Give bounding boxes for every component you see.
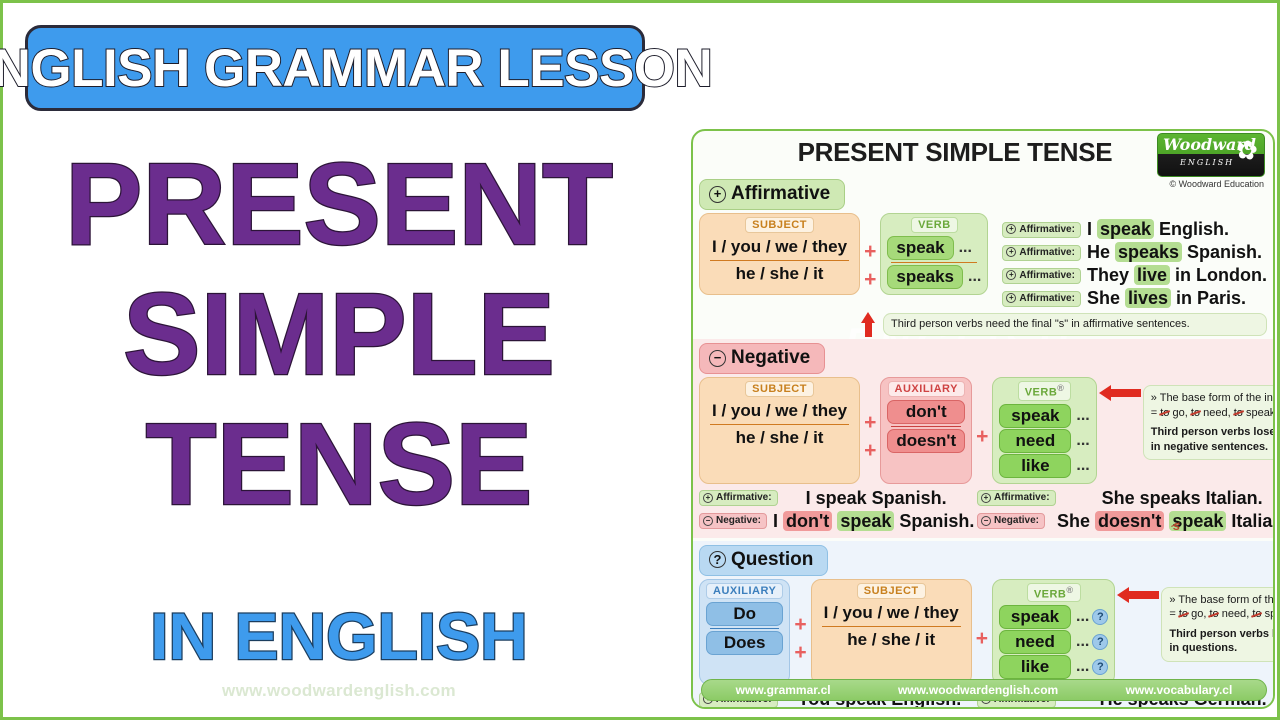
negative-verb-3: like — [999, 454, 1071, 478]
headline-line-4: IN ENGLISH — [3, 603, 675, 669]
negative-example-row: + Affirmative: She speaks Italian. — [977, 488, 1267, 509]
plus-sign: + — [864, 268, 876, 292]
red-left-arrow — [1117, 587, 1159, 603]
affirmative-example-label: + Affirmative: — [1002, 222, 1081, 238]
affirmative-verb-header: VERB — [911, 217, 958, 233]
affirmative-example-text: I speak Spanish. — [806, 488, 947, 509]
affirmative-example-row: + Affirmative: They live in London. — [1002, 265, 1267, 286]
ellipsis: ... — [1076, 432, 1089, 450]
affirmative-example-label: + Affirmative: — [699, 490, 778, 506]
note-line-2: = to go, to need, to speak, to live — [1151, 406, 1275, 421]
plus-sign: + — [976, 627, 988, 651]
headline-line-3: TENSE — [3, 411, 675, 518]
affirmative-example-label: + Affirmative: — [1002, 245, 1081, 261]
lesson-title-banner: ENGLISH GRAMMAR LESSON — [25, 25, 645, 111]
negative-subject-header: SUBJECT — [745, 381, 814, 397]
ellipsis: ... — [959, 239, 972, 257]
footer-link-vocabulary[interactable]: www.vocabulary.cl — [1126, 683, 1233, 697]
negative-example-row: − Negative: She doesn't speak Italian. — [977, 511, 1267, 532]
negative-badge: − Negative — [699, 343, 825, 374]
question-verb-2: need — [999, 630, 1071, 654]
headline-line-1: PRESENT — [3, 151, 675, 258]
question-auxiliary-card: AUXILIARY Do Does — [699, 579, 790, 686]
circled-plus-icon: + — [1006, 247, 1016, 257]
circled-minus-icon: − — [981, 516, 991, 526]
negative-auxiliary-1: don't — [887, 400, 965, 424]
crossed-out-s: s — [1173, 518, 1180, 533]
circled-minus-icon: − — [709, 350, 726, 367]
affirmative-example-row: + Affirmative: He speaks Spanish. — [1002, 242, 1267, 263]
affirmative-verb-2: speaks — [887, 265, 963, 289]
chart-title: PRESENT SIMPLE TENSE — [755, 137, 1155, 168]
negative-subject-card: SUBJECT I / you / we / they he / she / i… — [699, 377, 860, 484]
ellipsis: ... — [968, 268, 981, 286]
fern-leaf-icon: ✿ — [1235, 136, 1260, 165]
affirmative-verb-card: VERB speak ... speaks ... — [880, 213, 988, 295]
question-subject-row-2: he / she / it — [818, 629, 965, 651]
question-auxiliary-header: AUXILIARY — [706, 583, 783, 599]
affirmative-example-label: + Affirmative: — [977, 490, 1056, 506]
negative-example-row: − Negative: I don't speak Spanish. — [699, 511, 977, 532]
footer-link-woodwardenglish[interactable]: www.woodwardenglish.com — [898, 683, 1058, 697]
affirmative-subject-row-1: I / you / we / they — [706, 236, 853, 258]
affirmative-section: + Affirmative SUBJECT I / you / we / the… — [693, 177, 1273, 337]
question-note: » The base form of the infinitive = to g… — [1161, 587, 1275, 662]
woodward-logo: Woodward ENGLISH ✿ — [1157, 133, 1265, 177]
negative-note: » The base form of the infinitive = to g… — [1143, 385, 1275, 460]
registered-mark-icon: ® — [1066, 585, 1073, 595]
question-subject-card: SUBJECT I / you / we / they he / she / i… — [811, 579, 972, 686]
ellipsis: ... — [1076, 457, 1089, 475]
ellipsis: ... — [1076, 658, 1089, 676]
affirmative-example-text: She lives in Paris. — [1087, 288, 1246, 309]
question-mark-icon: ? — [1092, 634, 1108, 650]
lesson-poster: ENGLISH GRAMMAR LESSON PRESENT SIMPLE TE… — [0, 0, 1280, 720]
negative-example-text: She doesn't speak Italian. — [1057, 511, 1275, 532]
lesson-title-text: ENGLISH GRAMMAR LESSON — [0, 38, 712, 99]
affirmative-subject-row-2: he / she / it — [706, 263, 853, 285]
ellipsis: ... — [1076, 608, 1089, 626]
negative-example-row: + Affirmative: I speak Spanish. — [699, 488, 977, 509]
negative-verb-card: VERB® speak ... need ... like ... — [992, 377, 1096, 484]
logo-subtitle: ENGLISH — [1180, 158, 1234, 167]
divider — [710, 424, 849, 425]
affirmative-verb-1: speak — [887, 236, 953, 260]
note-line-3: Third person verbs lose the final "s" in… — [1151, 425, 1275, 454]
negative-example-label: − Negative: — [699, 513, 767, 529]
question-mark-icon: ? — [1092, 659, 1108, 675]
affirmative-example-row: + Affirmative: I speak English. — [1002, 219, 1267, 240]
note-line-1: » The base form of the infinitive — [1151, 391, 1275, 406]
plus-sign: + — [794, 613, 806, 637]
circled-plus-icon: + — [709, 186, 726, 203]
note-line-2: = to go, to need, to speak, to live — [1169, 607, 1275, 622]
circled-plus-icon: + — [1006, 270, 1016, 280]
footer-link-grammar[interactable]: www.grammar.cl — [736, 683, 831, 697]
negative-verb-1: speak — [999, 404, 1071, 428]
circled-plus-icon: + — [703, 493, 713, 503]
note-line-1: » The base form of the infinitive — [1169, 593, 1275, 608]
circled-question-icon: ? — [709, 551, 726, 568]
red-left-arrow — [1099, 385, 1141, 401]
affirmative-example-row: + Affirmative: She lives in Paris. — [1002, 288, 1267, 309]
divider — [822, 626, 961, 627]
affirmative-subject-header: SUBJECT — [745, 217, 814, 233]
negative-example-text: I don't speak Spanish. — [773, 511, 974, 532]
affirmative-example-label: + Affirmative: — [1002, 291, 1081, 307]
question-verb-1: speak — [999, 605, 1071, 629]
question-auxiliary-1: Do — [706, 602, 783, 626]
affirmative-subject-card: SUBJECT I / you / we / they he / she / i… — [699, 213, 860, 295]
question-verb-header: VERB® — [1027, 583, 1081, 603]
question-auxiliary-2: Does — [706, 631, 783, 655]
plus-sign: + — [864, 439, 876, 463]
footer-bar: www.grammar.cl www.woodwardenglish.com w… — [701, 679, 1267, 701]
chart-header: PRESENT SIMPLE TENSE Woodward ENGLISH ✿ … — [693, 131, 1273, 177]
plus-sign: + — [864, 240, 876, 264]
question-verb-card: VERB® speak ... ? need ... ? like — [992, 579, 1115, 686]
question-mark-icon: ? — [1092, 609, 1108, 625]
plus-sign: + — [794, 641, 806, 665]
divider — [891, 262, 977, 263]
negative-verb-2: need — [999, 429, 1071, 453]
red-up-arrow — [861, 312, 875, 337]
ellipsis: ... — [1076, 633, 1089, 651]
question-badge-label: Question — [731, 549, 813, 571]
left-website-url: www.woodwardenglish.com — [3, 681, 675, 701]
negative-section: − Negative SUBJECT I / you / we / they h… — [693, 339, 1273, 538]
affirmative-example-text: He speaks Spanish. — [1087, 242, 1262, 263]
negative-example-label: − Negative: — [977, 513, 1045, 529]
negative-auxiliary-2: doesn't — [887, 429, 965, 453]
question-subject-row-1: I / you / we / they — [818, 602, 965, 624]
negative-subject-row-2: he / she / it — [706, 427, 853, 449]
ellipsis: ... — [1076, 407, 1089, 425]
divider — [891, 426, 961, 427]
plus-sign: + — [864, 411, 876, 435]
plus-sign: + — [976, 425, 988, 449]
circled-plus-icon: + — [981, 493, 991, 503]
circled-plus-icon: + — [1006, 293, 1016, 303]
negative-badge-label: Negative — [731, 347, 810, 369]
note-line-3: Third person verbs lose the final "s" in… — [1169, 627, 1275, 656]
left-panel: ENGLISH GRAMMAR LESSON PRESENT SIMPLE TE… — [3, 3, 675, 717]
headline-line-2: SIMPLE — [3, 281, 675, 388]
registered-mark-icon: ® — [1057, 383, 1064, 393]
circled-minus-icon: − — [703, 516, 713, 526]
negative-verb-header: VERB® — [1018, 381, 1072, 401]
affirmative-example-text: They live in London. — [1087, 265, 1267, 286]
divider — [710, 260, 849, 261]
negative-auxiliary-card: AUXILIARY don't doesn't — [880, 377, 972, 484]
affirmative-note: Third person verbs need the final "s" in… — [883, 313, 1267, 336]
divider — [710, 628, 779, 629]
negative-auxiliary-header: AUXILIARY — [888, 381, 965, 397]
negative-subject-row-1: I / you / we / they — [706, 400, 853, 422]
question-badge: ? Question — [699, 545, 828, 576]
question-verb-3: like — [999, 655, 1071, 679]
affirmative-example-label: + Affirmative: — [1002, 268, 1081, 284]
affirmative-badge-label: Affirmative — [731, 183, 830, 205]
affirmative-example-text: I speak English. — [1087, 219, 1229, 240]
grammar-chart-panel: ENGLISH Woodward PRESENT SIMPLE TENSE Wo… — [691, 129, 1275, 709]
affirmative-example-text: She speaks Italian. — [1102, 488, 1263, 509]
circled-plus-icon: + — [1006, 224, 1016, 234]
question-subject-header: SUBJECT — [857, 583, 926, 599]
affirmative-badge: + Affirmative — [699, 179, 845, 210]
